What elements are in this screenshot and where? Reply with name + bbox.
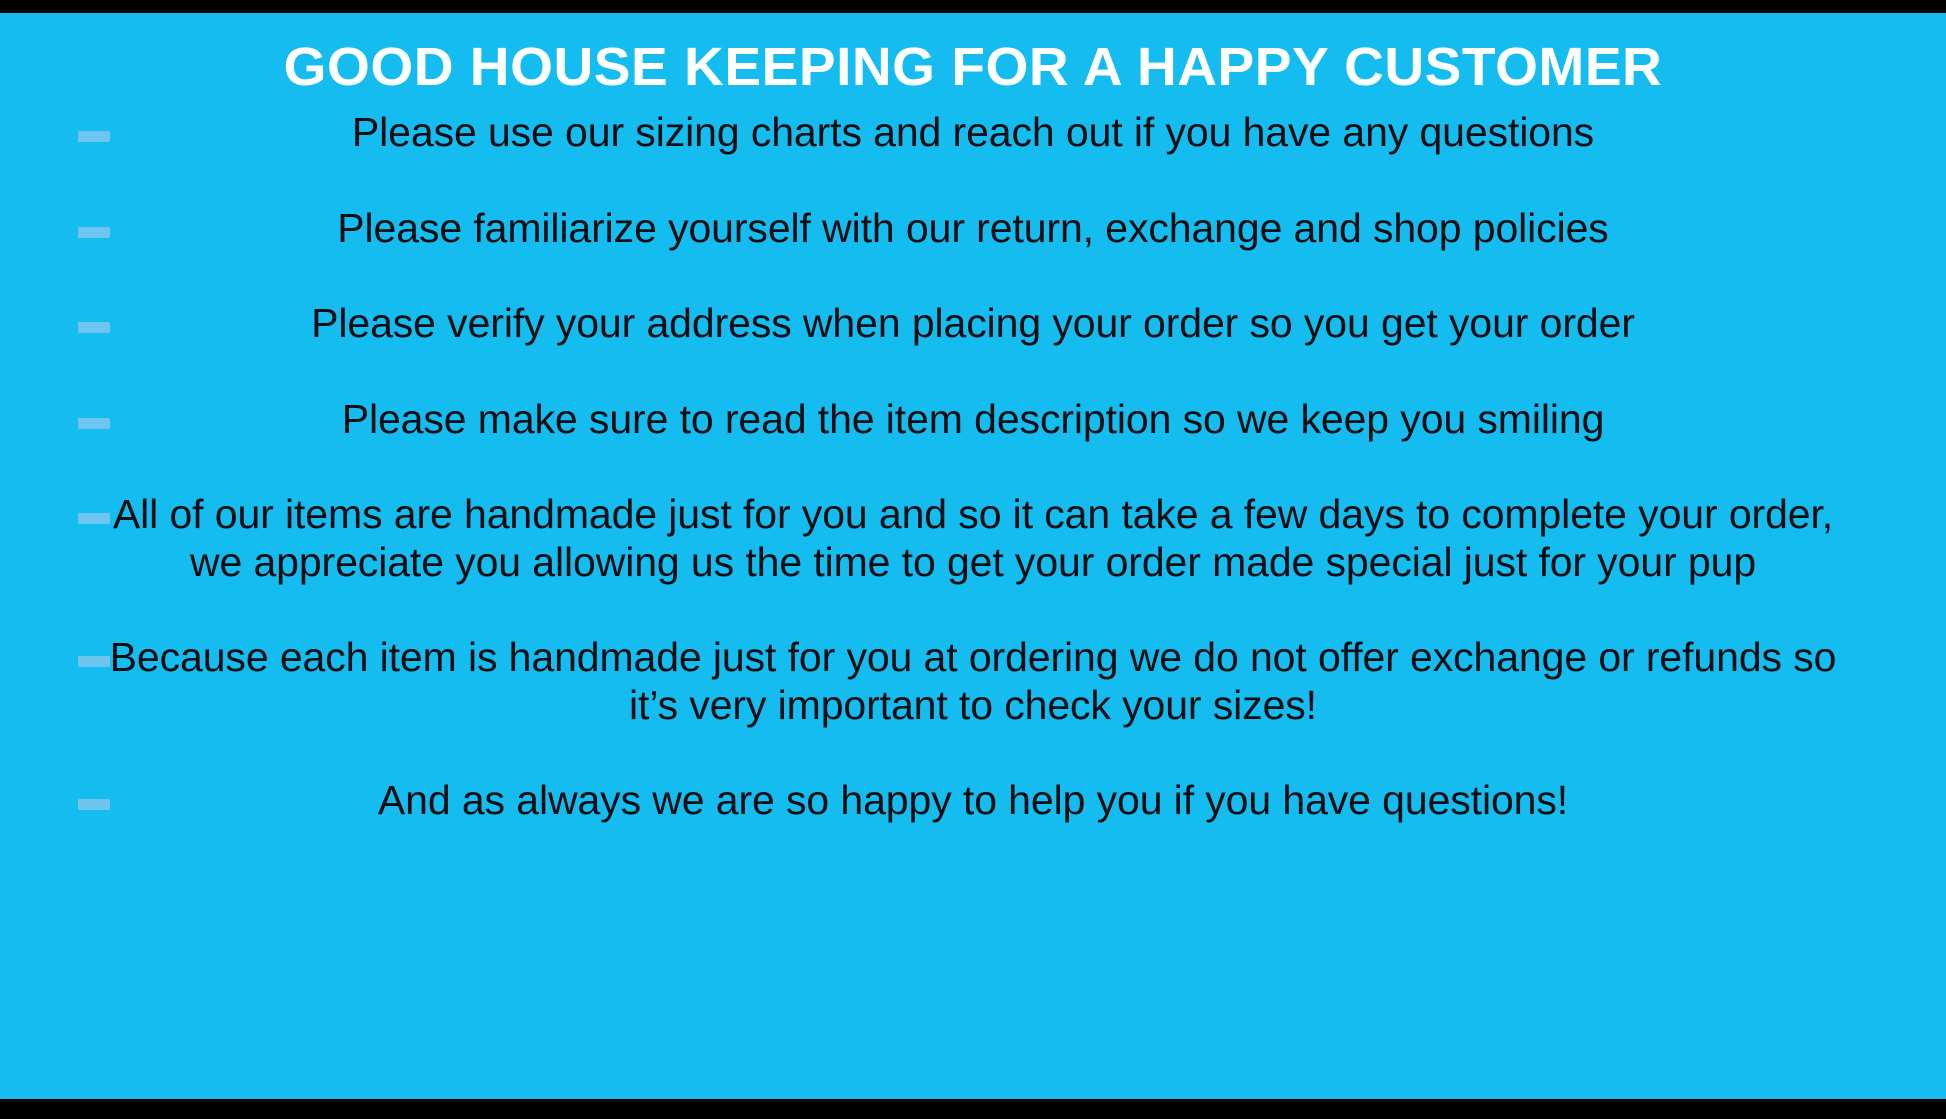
list-item: Please familiarize yourself with our ret…	[0, 205, 1946, 253]
letterbox-top-bar	[0, 0, 1946, 13]
slide-container: GOOD HOUSE KEEPING FOR A HAPPY CUSTOMER …	[0, 0, 1946, 1119]
dash-bullet-icon	[78, 322, 110, 333]
dash-bullet-icon	[78, 656, 110, 667]
dash-bullet-icon	[78, 513, 110, 524]
page-title: GOOD HOUSE KEEPING FOR A HAPPY CUSTOMER	[0, 39, 1946, 96]
dash-bullet-icon	[78, 131, 110, 142]
letterbox-bottom-bar	[0, 1099, 1946, 1119]
list-item: And as always we are so happy to help yo…	[0, 777, 1946, 825]
dash-bullet-icon	[78, 227, 110, 238]
list-item-label: Please familiarize yourself with our ret…	[96, 205, 1850, 253]
list-item: Please use our sizing charts and reach o…	[0, 109, 1946, 157]
bullet-list: Please use our sizing charts and reach o…	[0, 109, 1946, 825]
list-item-label: Because each item is handmade just for y…	[96, 634, 1850, 729]
list-item: Please make sure to read the item descri…	[0, 396, 1946, 444]
list-item-label: Please use our sizing charts and reach o…	[96, 109, 1850, 157]
dash-bullet-icon	[78, 799, 110, 810]
list-item: Please verify your address when placing …	[0, 300, 1946, 348]
list-item-label: Please make sure to read the item descri…	[96, 396, 1850, 444]
list-item-label: All of our items are handmade just for y…	[96, 491, 1850, 586]
list-item-label: And as always we are so happy to help yo…	[96, 777, 1850, 825]
list-item-label: Please verify your address when placing …	[96, 300, 1850, 348]
dash-bullet-icon	[78, 418, 110, 429]
slide-canvas: GOOD HOUSE KEEPING FOR A HAPPY CUSTOMER …	[0, 13, 1946, 1099]
list-item: Because each item is handmade just for y…	[0, 634, 1946, 729]
list-item: All of our items are handmade just for y…	[0, 491, 1946, 586]
